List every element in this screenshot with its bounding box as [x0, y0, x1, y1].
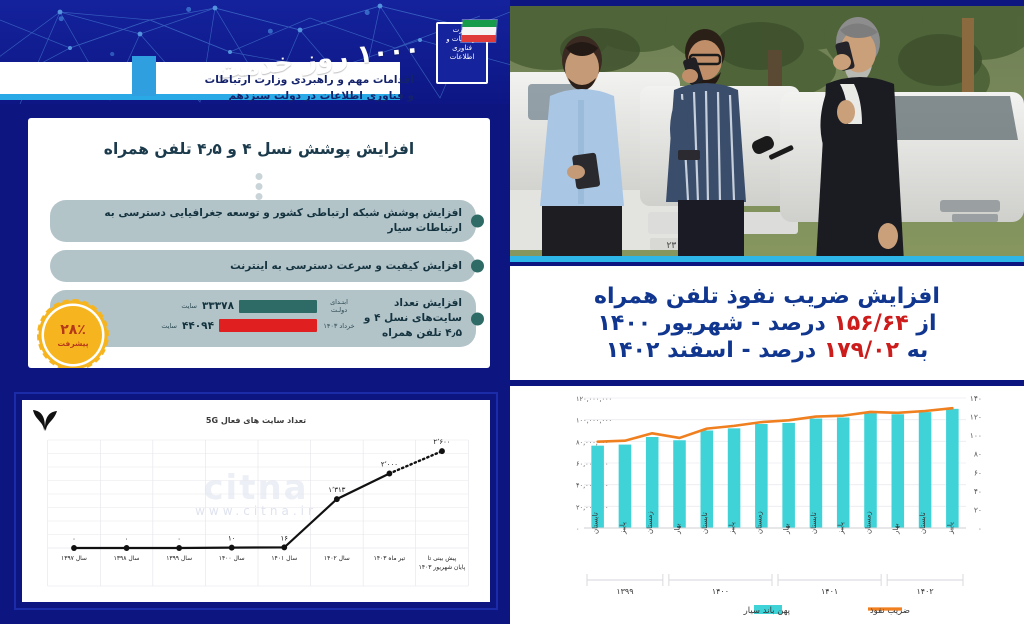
list-item: افزایش کیفیت و سرعت دسترسی به اینترنت	[50, 250, 476, 282]
svg-text:۱۴۰۲: ۱۴۰۲	[916, 587, 933, 596]
svg-text:سال ۱۳۹۷: سال ۱۳۹۷	[61, 555, 87, 562]
svg-text:تابستان: تابستان	[810, 512, 818, 534]
bullet-dot-icon	[471, 215, 484, 228]
site-count-comparison: ابتـدای دولـت ۳۳۳۷۸ سایت خرداد ۱۴۰۳ ۴۴۰۹…	[141, 298, 356, 337]
progress-badge: ۲۸٪ پیشرفت	[44, 306, 102, 364]
comparison-before-value: ۳۳۳۷۸	[202, 300, 234, 312]
svg-text:۱۲۰,۰۰۰,۰۰۰: ۱۲۰,۰۰۰,۰۰۰	[576, 395, 612, 403]
comparison-after-unit: سایت	[161, 322, 177, 330]
svg-text:تابستان: تابستان	[592, 512, 600, 534]
iran-flag-icon	[461, 20, 497, 42]
banner-line-3: به ۱۷۹/۰۲ درصد - اسفند ۱۴۰۲	[606, 338, 929, 363]
comparison-before-caption: ابتـدای دولـت	[322, 298, 356, 314]
photo-top-border	[510, 0, 1024, 6]
row-pill: افزایش تعداد سایت‌های نسل ۴ و ۴٫۵ تلفن ه…	[50, 290, 476, 347]
row-pill: افزایش پوشش شبکه ارتباطی کشور و توسعه جغ…	[50, 200, 476, 242]
coverage-card: افزایش پوشش نسل ۴ و ۴٫۵ تلفن همراه افزای…	[28, 118, 490, 368]
banner-line-3-prefix: به	[907, 338, 929, 363]
svg-text:پاییز: پاییز	[728, 522, 736, 535]
banner-line-2-prefix: از	[916, 311, 936, 336]
badge-percent: ۲۸٪	[60, 322, 86, 338]
banner-line-2-suffix: درصد - شهریور ۱۴۰۰	[597, 311, 825, 336]
svg-text:پهن باند سیار: پهن باند سیار	[743, 606, 791, 616]
svg-text:۰: ۰	[177, 534, 181, 543]
svg-text:۸۰: ۸۰	[974, 450, 982, 459]
svg-text:پایان شهریور ۱۴۰۳: پایان شهریور ۱۴۰۳	[419, 564, 466, 571]
svg-text:سال ۱۴۰۰: سال ۱۴۰۰	[219, 555, 245, 562]
svg-text:۱۴۰: ۱۴۰	[970, 394, 982, 403]
svg-text:سال ۱۳۹۸: سال ۱۳۹۸	[114, 555, 140, 562]
ministry-logo-icon: وزارت ارتباطات و فناوری اطلاعات	[426, 16, 492, 88]
svg-text:۱۲۰: ۱۲۰	[970, 413, 982, 422]
right-column: ۲۳ ۱۶۹	[510, 0, 1024, 624]
svg-text:۶۰: ۶۰	[974, 468, 982, 477]
list-item: افزایش پوشش شبکه ارتباطی کشور و توسعه جغ…	[50, 200, 476, 242]
svg-text:۱۴۰۰: ۱۴۰۰	[712, 587, 729, 596]
line-chart-title: تعداد سایت های فعال 5G	[22, 416, 490, 425]
svg-text:بهار: بهار	[783, 523, 791, 535]
svg-text:۱٬۳۱۳: ۱٬۳۱۳	[328, 485, 345, 494]
comparison-before-unit: سایت	[181, 302, 197, 310]
card-title: افزایش پوشش نسل ۴ و ۴٫۵ تلفن همراه	[28, 140, 490, 158]
header-accent-square	[132, 56, 156, 96]
svg-text:بهار: بهار	[892, 523, 900, 535]
line-chart-card: تعداد سایت های فعال 5G citna www.citna.i…	[22, 400, 490, 602]
banner-line-2-value: ۱۵۶/۶۴	[833, 311, 908, 336]
comparison-after-row: خرداد ۱۴۰۳ ۴۴۰۹۴ سایت	[141, 319, 356, 332]
banner-line-1: افزایش ضریب نفوذ تلفن همراه	[594, 284, 940, 309]
svg-text:۱۰۰,۰۰۰,۰۰۰: ۱۰۰,۰۰۰,۰۰۰	[576, 417, 612, 425]
svg-text:زمستان: زمستان	[646, 511, 654, 534]
svg-text:۱۰: ۱۰	[228, 534, 235, 543]
svg-text:۲۰: ۲۰	[974, 505, 982, 514]
left-column: وزارت ارتباطات و فناوری اطلاعات ۱۰۰۰ روز…	[0, 0, 510, 624]
svg-text:۱۰۰: ۱۰۰	[970, 431, 982, 440]
comparison-after-bar	[219, 319, 317, 332]
svg-text:۴۰: ۴۰	[974, 487, 982, 496]
row-text: افزایش پوشش شبکه ارتباطی کشور و توسعه جغ…	[90, 206, 462, 236]
svg-text:زمستان: زمستان	[755, 511, 763, 534]
header-subtitle: اقدامات مهم و راهبردی وزارت ارتباطات و ف…	[196, 72, 414, 104]
svg-text:۰: ۰	[125, 534, 129, 543]
svg-text:۲٬۶۰۰: ۲٬۶۰۰	[433, 437, 450, 446]
photo-men-with-phones: ۲۳ ۱۶۹	[510, 0, 1024, 262]
svg-text:سال ۱۴۰۱: سال ۱۴۰۱	[271, 555, 297, 562]
svg-text:۲٬۰۰۰: ۲٬۰۰۰	[381, 459, 398, 468]
header-band: وزارت ارتباطات و فناوری اطلاعات ۱۰۰۰ روز…	[0, 0, 510, 104]
comparison-before-row: ابتـدای دولـت ۳۳۳۷۸ سایت	[141, 298, 356, 314]
svg-text:بهار: بهار	[674, 523, 682, 535]
svg-text:۰: ۰	[978, 524, 982, 533]
svg-text:ضریب نفوذ: ضریب نفوذ	[870, 606, 910, 616]
svg-text:۰: ۰	[72, 534, 76, 543]
comparison-after-value: ۴۴۰۹۴	[182, 320, 214, 332]
broadband-penetration-chart: ۰۲۰,۰۰۰,۰۰۰۴۰,۰۰۰,۰۰۰۶۰,۰۰۰,۰۰۰۸۰,۰۰۰,۰۰…	[510, 386, 1024, 624]
svg-text:سال ۱۴۰۲: سال ۱۴۰۲	[324, 555, 350, 562]
bullet-dot-icon	[471, 312, 484, 325]
penetration-banner: افزایش ضریب نفوذ تلفن همراه از ۱۵۶/۶۴ در…	[510, 262, 1024, 384]
banner-line-3-suffix: درصد - اسفند ۱۴۰۲	[606, 338, 816, 363]
header-branding: وزارت ارتباطات و فناوری اطلاعات ۱۰۰۰ روز…	[192, 14, 492, 98]
line-chart-plot: ۰۰۰۱۰۱۶۱٬۳۱۳۲٬۰۰۰۲٬۶۰۰سال ۱۳۹۷سال ۱۳۹۸سا…	[40, 434, 476, 594]
dots-decoration-icon	[256, 170, 263, 203]
row-pill: افزایش کیفیت و سرعت دسترسی به اینترنت	[50, 250, 476, 282]
comparison-before-bar	[239, 300, 317, 313]
combo-chart-svg: ۰۲۰,۰۰۰,۰۰۰۴۰,۰۰۰,۰۰۰۶۰,۰۰۰,۰۰۰۸۰,۰۰۰,۰۰…	[510, 386, 1024, 624]
svg-text:پاییز: پاییز	[619, 522, 627, 535]
svg-text:۱۶: ۱۶	[281, 533, 289, 542]
photo-illustration: ۲۳ ۱۶۹	[510, 0, 1024, 262]
header-subtitle-line1: اقدامات مهم و راهبردی وزارت ارتباطات	[196, 72, 414, 88]
svg-text:۰: ۰	[576, 525, 580, 533]
infographic-page: وزارت ارتباطات و فناوری اطلاعات ۱۰۰۰ روز…	[0, 0, 1024, 624]
header-subtitle-line2: و فناوری اطلاعات در دولت سیزدهم	[196, 88, 414, 104]
svg-text:پاییز: پاییز	[946, 522, 954, 535]
list-item: افزایش تعداد سایت‌های نسل ۴ و ۴٫۵ تلفن ه…	[50, 290, 476, 347]
svg-text:سال ۱۳۹۹: سال ۱۳۹۹	[166, 555, 192, 562]
banner-line-2: از ۱۵۶/۶۴ درصد - شهریور ۱۴۰۰	[597, 311, 936, 336]
bullet-dot-icon	[471, 260, 484, 273]
svg-text:۱۳۹۹: ۱۳۹۹	[616, 587, 633, 596]
comparison-after-caption: خرداد ۱۴۰۳	[322, 322, 356, 330]
card-rows: افزایش پوشش شبکه ارتباطی کشور و توسعه جغ…	[50, 200, 476, 355]
svg-text:زمستان: زمستان	[865, 511, 873, 534]
svg-text:تابستان: تابستان	[919, 512, 927, 534]
svg-text:تابستان: تابستان	[701, 512, 709, 534]
banner-line-3-value: ۱۷۹/۰۲	[824, 338, 899, 363]
line-chart-svg: ۰۰۰۱۰۱۶۱٬۳۱۳۲٬۰۰۰۲٬۶۰۰سال ۱۳۹۷سال ۱۳۹۸سا…	[40, 434, 476, 594]
row-text: افزایش تعداد سایت‌های نسل ۴ و ۴٫۵ تلفن ه…	[352, 296, 462, 341]
badge-label: پیشرفت	[57, 339, 88, 348]
photo-bottom-cyan-line	[510, 256, 1024, 262]
line-chart-frame: تعداد سایت های فعال 5G citna www.citna.i…	[14, 392, 498, 610]
svg-text:پاییز: پاییز	[837, 522, 845, 535]
svg-text:پیش بینی تا: پیش بینی تا	[428, 555, 457, 562]
row-text: افزایش کیفیت و سرعت دسترسی به اینترنت	[230, 259, 462, 274]
svg-text:تیر ماه ۱۴۰۳: تیر ماه ۱۴۰۳	[374, 555, 406, 562]
svg-text:۱۴۰۱: ۱۴۰۱	[821, 587, 838, 596]
